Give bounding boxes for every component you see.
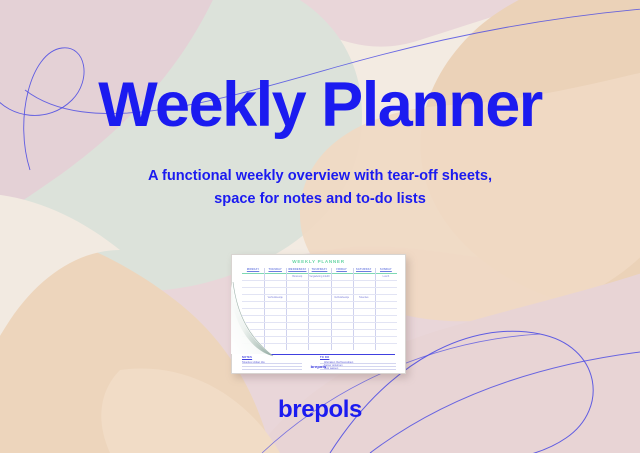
planner-entry-verhuisfeestje-tue: Verhuisfeestje <box>264 296 286 299</box>
grid-rule-4 <box>242 301 397 302</box>
grid-rule-5 <box>242 308 397 309</box>
poster: Weekly Planner A functional weekly overv… <box>0 0 640 453</box>
planner-day-monday: MONDAY <box>242 268 264 271</box>
brand-logo: brepols <box>0 396 640 424</box>
planner-day-tuesday: TUESDAY <box>264 268 286 271</box>
planner-notes-label: NOTES <box>242 356 302 360</box>
planner-entry-bioscoop: Bioscoop <box>286 275 308 278</box>
subtitle-line-2: space for notes and to-do lists <box>148 188 492 211</box>
planner-footer-rule <box>270 354 395 355</box>
poster-content: Weekly Planner A functional weekly overv… <box>0 0 640 453</box>
page-title: Weekly Planner <box>98 74 542 137</box>
grid-rule-9 <box>242 336 397 337</box>
planner-day-wednesday: WEDNESDAY <box>286 268 308 271</box>
grid-rule-6 <box>242 315 397 316</box>
planner-entry-lunch: Lunch <box>375 275 397 278</box>
planner-entry-verhuisfeestje-fri: Verhuisfeestje <box>331 296 353 299</box>
grid-rule-2 <box>242 287 397 288</box>
planner-mockup: WEEKLY PLANNER <box>231 254 409 378</box>
planner-brand-logo: brepols <box>232 364 405 369</box>
grid-rule-10 <box>242 343 397 344</box>
grid-rule-8 <box>242 329 397 330</box>
planner-day-saturday: SATURDAY <box>353 268 375 271</box>
planner-week-grid: MONDAY TUESDAY WEDNESDAY THURSDAY FRIDAY… <box>242 268 397 350</box>
planner-entry-tekenles: Tekenles <box>353 296 375 299</box>
planner-todo-item-4 <box>320 370 396 373</box>
subtitle-line-1: A functional weekly overview with tear-o… <box>148 165 492 188</box>
planner-todo-label: TO DO <box>320 356 396 360</box>
grid-rule-3 <box>242 294 397 295</box>
grid-rule-1 <box>242 280 397 281</box>
planner-entry-vergadering: Vergadering 14u00 <box>308 275 330 278</box>
grid-rule-7 <box>242 322 397 323</box>
poster-subtitle: A functional weekly overview with tear-o… <box>148 165 492 210</box>
planner-sheet: WEEKLY PLANNER <box>231 254 406 374</box>
planner-title: WEEKLY PLANNER <box>232 259 405 264</box>
planner-day-thursday: THURSDAY <box>308 268 330 271</box>
planner-header-rule <box>242 273 397 274</box>
planner-day-sunday: SUNDAY <box>375 268 397 271</box>
planner-day-friday: FRIDAY <box>331 268 353 271</box>
